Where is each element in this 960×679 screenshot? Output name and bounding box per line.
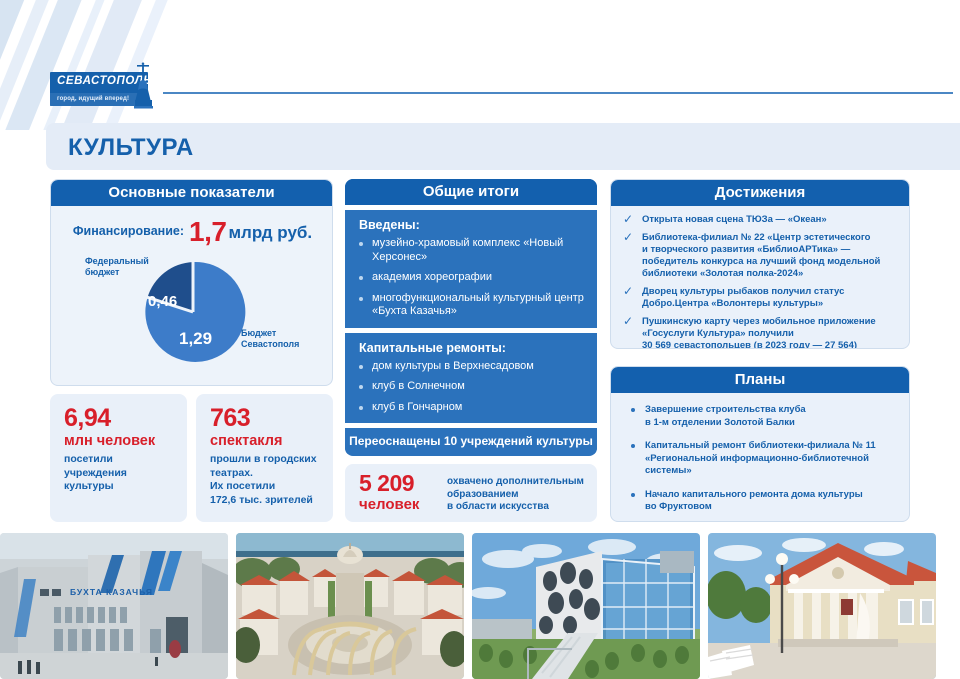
line: Их посетили [210,480,275,492]
list-item: ✓ Библиотека-филиал № 22 «Центр эстетиче… [622,232,899,280]
line: охвачено дополнительным [447,476,584,487]
financing-unit: млрд руб. [228,223,312,242]
list-item: дом культуры в Верхнесадовом [359,360,585,374]
line: Добро.Центра «Волонтеры культуры» [642,298,823,309]
panel-achievements-title: Достижения [611,180,909,206]
stat-art-education: 5 209 человек охвачено дополнительным об… [345,464,597,522]
panel-results-title: Общие итоги [345,179,597,205]
page-title: КУЛЬТУРА [68,134,194,162]
achievements-list: ✓ Открыта новая сцена ТЮЗа — «Океан» ✓ Б… [611,206,909,349]
line: библиотеки «Золотая полка-2024» [642,268,803,279]
list-item: академия хореографии [359,271,585,285]
check-icon: ✓ [623,213,633,225]
line: Библиотека-филиал № 22 «Центр эстетическ… [642,232,871,243]
infographic-page: СЕВАСТОПОЛЬ город, идущий вперед! КУЛЬТУ… [0,0,960,679]
panel-general-results: Общие итоги Введены: музейно-храмовый ко… [345,179,597,456]
stat-art-education-unit: человек [359,495,441,514]
line: во Фруктовом [645,501,712,512]
financing-value: 1,7 [189,216,226,247]
pie-label-federal: Федеральныйбюджет [85,256,149,278]
line: и творческого развития «БиблиоАРТика» — [642,244,850,255]
list-item: клуб в Солнечном [359,380,585,394]
stat-art-education-description: охвачено дополнительным образованием в о… [447,476,589,514]
stat-performances-unit: спектакля [210,432,321,450]
svg-text:БУХТА КАЗАЧЬЯ: БУХТА КАЗАЧЬЯ [70,587,153,597]
check-icon: ✓ [623,231,633,243]
line: прошли в городских [210,453,317,465]
line: в области искусства [447,501,549,512]
list-item: ✓ Открыта новая сцена ТЮЗа — «Океан» [622,214,899,226]
header-divider [163,92,953,94]
line: в 1-м отделении Золотой Балки [645,417,795,428]
results-section-heading: Капитальные ремонты: [359,341,585,355]
line: Завершение строительства клуба [645,404,806,415]
stat-visitors-unit: млн человек [64,432,175,450]
sevastopol-logo: СЕВАСТОПОЛЬ город, идущий вперед! [50,60,165,110]
stat-performances: 763 спектакля прошли в городских театрах… [196,394,333,522]
line: Пушкинскую карту через мобильное приложе… [642,316,876,327]
results-section-renovations: Капитальные ремонты: дом культуры в Верх… [345,333,597,424]
stat-visitors-description: посетили учреждения культуры [64,453,175,494]
stat-art-education-number: 5 209 [359,472,441,495]
photo-cultural-center: БУХТА КАЗАЧЬЯ [0,533,228,679]
financing-row: Финансирование:1,7млрд руб. [51,216,333,248]
budget-pie-chart: Федеральныйбюджет БюджетСевастополя 0,46… [51,252,333,384]
line: системы» [645,465,692,476]
photo-choreography-academy [472,533,700,679]
line: 172,6 тыс. зрителей [210,494,313,506]
panel-plans-title: Планы [611,367,909,393]
photo-strip: БУХТА КАЗАЧЬЯ [0,533,960,679]
check-icon: ✓ [623,285,633,297]
stat-visitors-number: 6,94 [64,405,175,432]
line: «Госуслуги Культура» получили [642,328,794,339]
results-footer: Переоснащены 10 учреждений культуры [345,428,597,454]
photo-new-chersonesos [236,533,464,679]
results-list: музейно-храмовый комплекс «Новый Херсоне… [359,237,585,319]
line: «Региональной информационно-библиотечной [645,453,869,464]
list-item: Капитальный ремонт библиотеки-филиала № … [631,440,897,478]
photo-house-of-culture [708,533,936,679]
list-item: ✓ Пушкинскую карту через мобильное прило… [622,316,899,349]
results-section-commissioned: Введены: музейно-храмовый комплекс «Новы… [345,210,597,328]
stat-performances-number: 763 [210,405,321,432]
stat-art-education-value: 5 209 человек [359,472,441,514]
results-section-heading: Введены: [359,218,585,232]
list-item: Завершение строительства клуба в 1-м отд… [631,404,897,429]
panel-achievements: Достижения ✓ Открыта новая сцена ТЮЗа — … [610,179,910,349]
panel-main-indicators: Основные показатели Финансирование:1,7мл… [50,179,333,386]
list-item: многофункциональный культурный центр «Бу… [359,292,585,319]
panel-plans: Планы Завершение строительства клуба в 1… [610,366,910,522]
line: Начало капитального ремонта дома культур… [645,489,863,500]
pie-value-federal: 0,46 [148,293,177,310]
line: театрах. [210,467,253,479]
monument-icon [120,60,166,110]
line: посетили [64,453,113,465]
pie-value-city: 1,29 [179,329,212,349]
pie-svg [139,258,247,366]
line: учреждения [64,467,127,479]
list-item: Начало капитального ремонта дома культур… [631,489,897,514]
line: образованием [447,489,519,500]
line: 30 569 севастопольцев (в 2023 году — 27 … [642,340,857,349]
plans-list: Завершение строительства клуба в 1-м отд… [611,393,909,514]
line: Капитальный ремонт библиотеки-филиала № … [645,440,876,451]
line: Дворец культуры рыбаков получил статус [642,286,844,297]
line: Открыта новая сцена ТЮЗа — «Океан» [642,214,827,225]
list-item: клуб в Гончарном [359,401,585,415]
photo-choreography-academy-image [472,533,700,679]
page-title-band: КУЛЬТУРА [46,123,960,170]
photo-house-of-culture-image [708,533,936,679]
panel-main-title: Основные показатели [51,180,332,206]
check-icon: ✓ [623,315,633,327]
list-item: ✓ Дворец культуры рыбаков получил статус… [622,286,899,310]
stat-performances-description: прошли в городских театрах. Их посетили … [210,453,321,507]
photo-new-chersonesos-image [236,533,464,679]
stat-visitors: 6,94 млн человек посетили учреждения кул… [50,394,187,522]
list-item: музейно-храмовый комплекс «Новый Херсоне… [359,237,585,264]
financing-label: Финансирование: [73,224,184,238]
line: культуры [64,480,114,492]
pie-label-city: БюджетСевастополя [241,328,299,350]
photo-cultural-center-image: БУХТА КАЗАЧЬЯ [0,533,228,679]
line: победитель конкурса на лучший фонд модел… [642,256,880,267]
results-list: дом культуры в Верхнесадовом клуб в Солн… [359,360,585,415]
